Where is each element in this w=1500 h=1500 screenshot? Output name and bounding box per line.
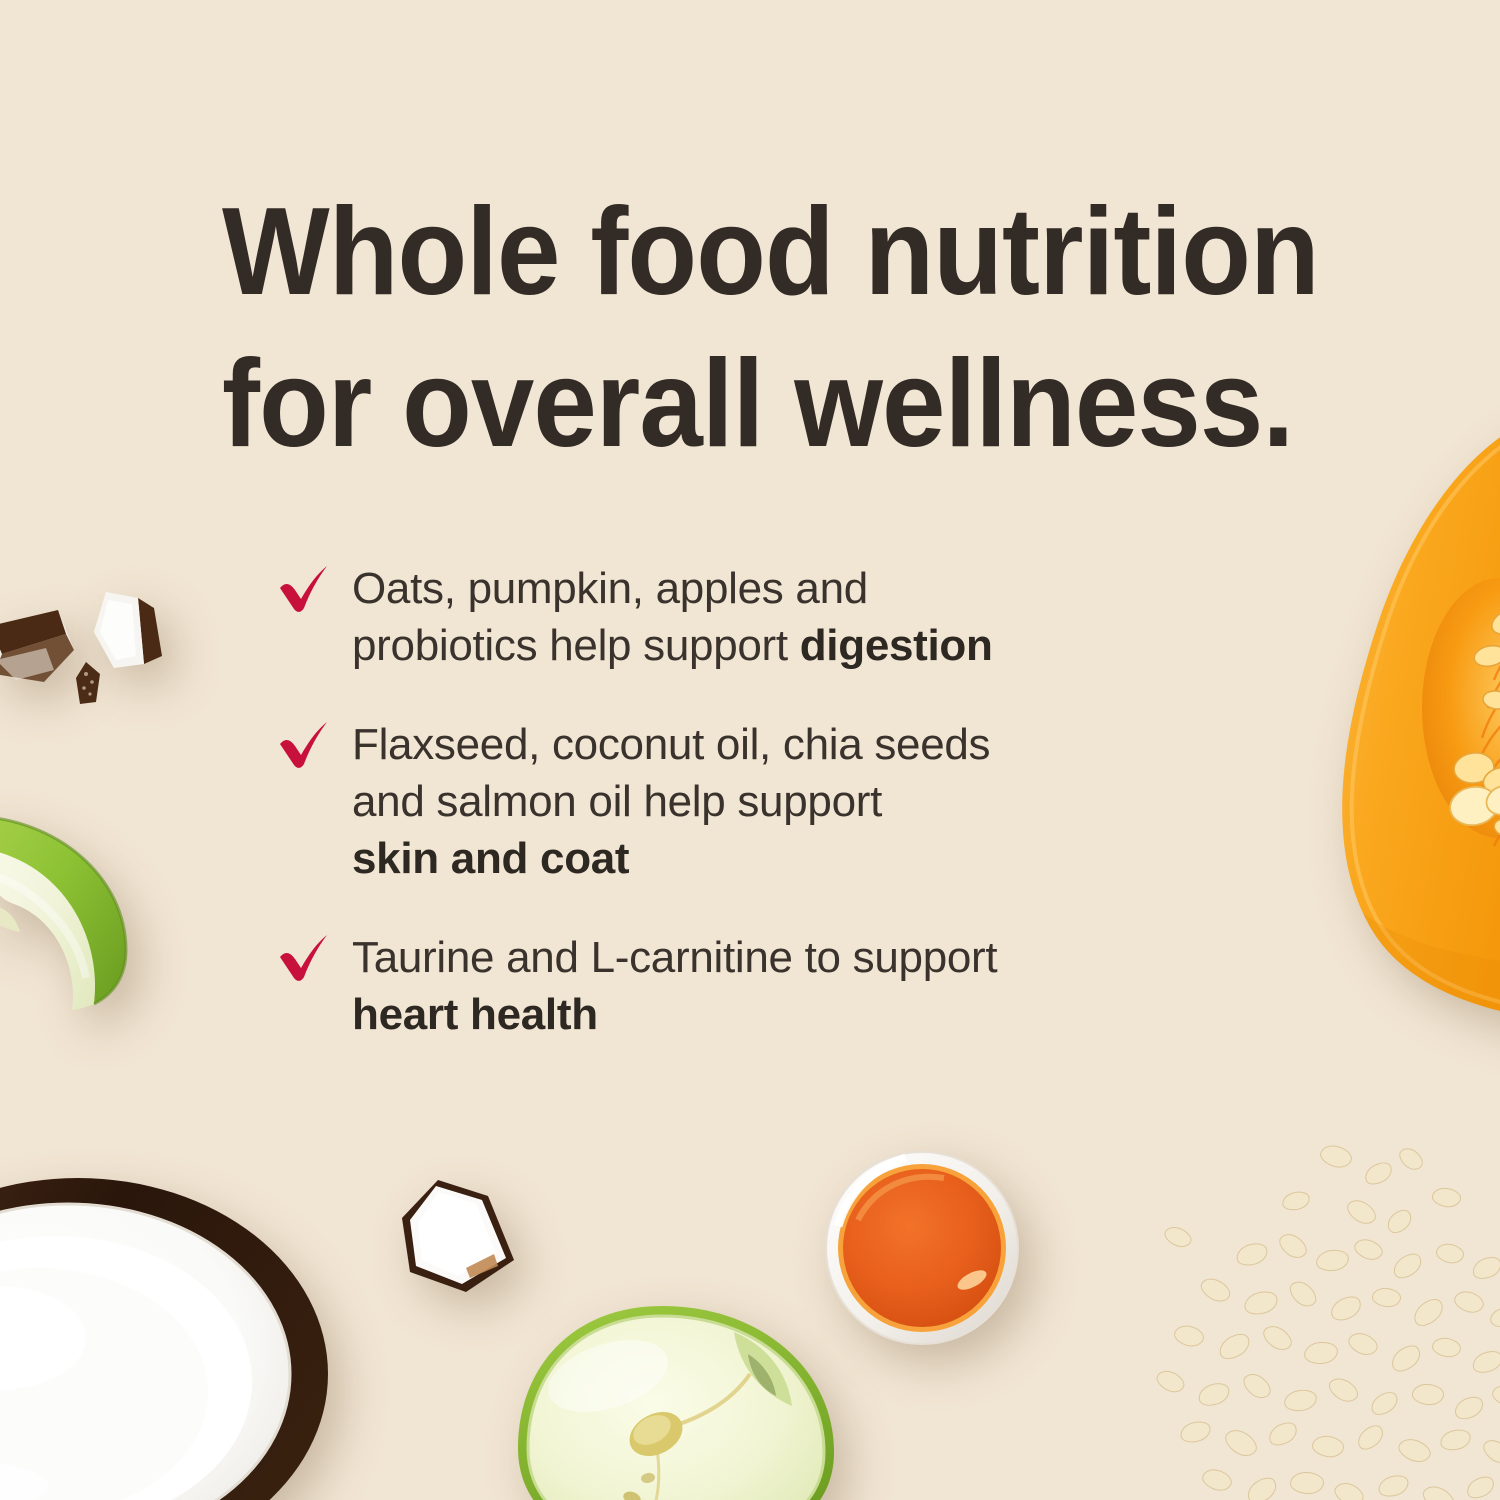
oats-image bbox=[1140, 1140, 1500, 1500]
benefits-list: Oats, pumpkin, apples and probiotics hel… bbox=[276, 560, 1236, 1043]
oil-bowl-image bbox=[822, 1148, 1022, 1348]
list-item: Flaxseed, coconut oil, chia seeds and sa… bbox=[276, 716, 1236, 887]
list-item-text: Taurine and L-carnitine to support heart… bbox=[352, 929, 1236, 1043]
check-icon bbox=[276, 933, 332, 983]
coconut-chunk-image bbox=[396, 1176, 522, 1300]
apple-slice-image bbox=[0, 800, 162, 1012]
list-item: Oats, pumpkin, apples and probiotics hel… bbox=[276, 560, 1236, 674]
check-icon bbox=[276, 720, 332, 770]
headline-line-2: for overall wellness. bbox=[222, 328, 1252, 480]
headline-line-1: Whole food nutrition bbox=[222, 176, 1252, 328]
pumpkin-half-image bbox=[1268, 408, 1500, 1028]
coconut-half-image bbox=[0, 1168, 348, 1500]
list-item-text: Oats, pumpkin, apples and probiotics hel… bbox=[352, 560, 1236, 674]
list-item: Taurine and L-carnitine to support heart… bbox=[276, 929, 1236, 1043]
list-item-text: Flaxseed, coconut oil, chia seeds and sa… bbox=[352, 716, 1236, 887]
coconut-crumb-image bbox=[72, 660, 106, 708]
check-icon bbox=[276, 564, 332, 614]
page-title: Whole food nutrition for overall wellnes… bbox=[222, 176, 1252, 480]
marketing-image: Whole food nutrition for overall wellnes… bbox=[0, 0, 1500, 1500]
apple-half-image bbox=[512, 1302, 842, 1500]
coconut-chunk-image bbox=[0, 604, 78, 688]
